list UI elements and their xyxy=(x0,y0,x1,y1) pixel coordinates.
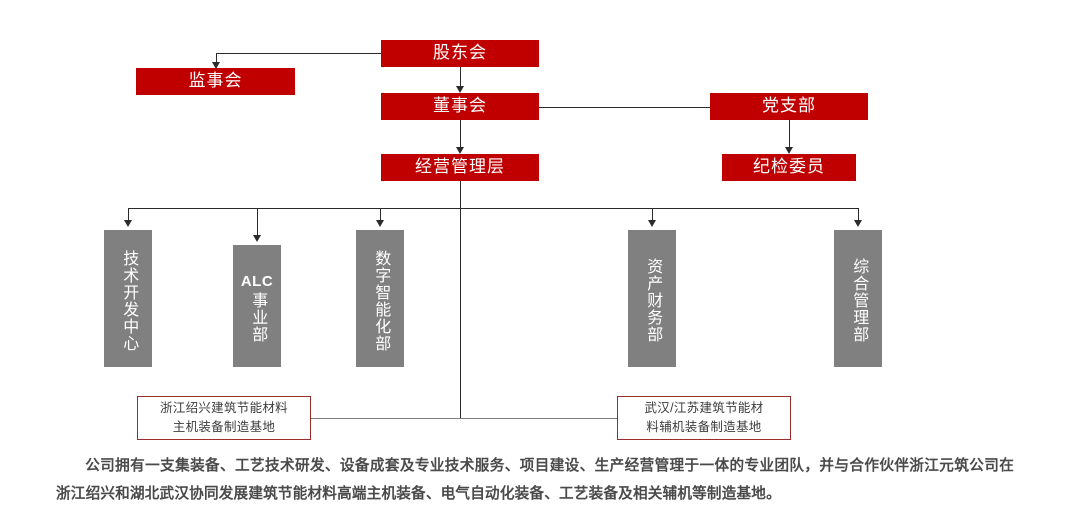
node-alc-division-label: 事业部 xyxy=(248,292,267,343)
connector-board-to-management xyxy=(460,120,461,147)
node-asset-finance[interactable]: 资产财务部 xyxy=(628,230,676,367)
node-tech-dev-center[interactable]: 技术开发中心 xyxy=(104,230,152,367)
arrowhead-discipline xyxy=(785,147,793,154)
node-discipline-label: 纪检委员 xyxy=(753,158,825,177)
chart-caption: 公司拥有一支集装备、工艺技术研发、设备成套及专业技术服务、项目建设、生产经营管理… xyxy=(56,452,1014,509)
node-alc-division[interactable]: ALC 事业部 xyxy=(233,245,281,367)
node-alc-division-latin: ALC xyxy=(241,273,273,291)
connector-base-bus xyxy=(311,418,617,419)
arrowhead-management xyxy=(456,147,464,154)
node-management[interactable]: 经营管理层 xyxy=(381,154,539,181)
arrowhead-asset-finance xyxy=(648,220,656,227)
node-shaoxing-base-line1: 浙江绍兴建筑节能材料 xyxy=(160,399,288,418)
arrowhead-tech-dev-center xyxy=(124,220,132,227)
node-digital-intelligence[interactable]: 数字智能化部 xyxy=(356,230,404,367)
arrowhead-digital-intelligence xyxy=(376,220,384,227)
node-general-management[interactable]: 综合管理部 xyxy=(834,230,882,367)
arrowhead-alc-division xyxy=(253,235,261,242)
node-party-branch[interactable]: 党支部 xyxy=(710,93,868,120)
node-board-label: 董事会 xyxy=(433,97,487,116)
node-wuhan-jiangsu-base-line2: 料辅机装备制造基地 xyxy=(645,418,764,437)
connector-party-branch-to-discipline xyxy=(789,120,790,147)
org-chart-diagram: 股东会 监事会 董事会 党支部 经营管理层 纪检委员 技术开发中心 ALC 事业… xyxy=(0,0,1069,515)
connector-department-bus xyxy=(128,208,859,209)
node-board-of-directors[interactable]: 董事会 xyxy=(381,93,539,120)
node-management-label: 经营管理层 xyxy=(415,158,505,177)
node-party-branch-label: 党支部 xyxy=(762,97,816,116)
node-shaoxing-base-line2: 主机装备制造基地 xyxy=(160,418,288,437)
node-digital-intelligence-label: 数字智能化部 xyxy=(371,250,390,352)
node-shareholders-label: 股东会 xyxy=(433,44,487,63)
node-wuhan-jiangsu-base-line1: 武汉/江苏建筑节能材 xyxy=(645,399,764,418)
node-wuhan-jiangsu-base[interactable]: 武汉/江苏建筑节能材 料辅机装备制造基地 xyxy=(617,396,791,440)
connector-management-trunk xyxy=(460,181,461,419)
arrowhead-board xyxy=(456,86,464,93)
node-shaoxing-base[interactable]: 浙江绍兴建筑节能材料 主机装备制造基地 xyxy=(137,396,311,440)
node-general-management-label: 综合管理部 xyxy=(849,258,868,343)
connector-drop-alc-division xyxy=(257,208,258,237)
connector-shareholders-to-supervisors-horizontal xyxy=(216,53,382,54)
node-asset-finance-label: 资产财务部 xyxy=(643,258,662,343)
node-supervisors[interactable]: 监事会 xyxy=(136,68,295,95)
node-supervisors-label: 监事会 xyxy=(189,72,243,91)
node-shareholders[interactable]: 股东会 xyxy=(381,40,539,67)
node-discipline-inspector[interactable]: 纪检委员 xyxy=(722,154,856,181)
arrowhead-general-management xyxy=(854,220,862,227)
node-tech-dev-center-label: 技术开发中心 xyxy=(119,250,138,352)
connector-board-to-party-branch xyxy=(539,107,710,108)
connector-shareholders-to-board xyxy=(460,67,461,86)
